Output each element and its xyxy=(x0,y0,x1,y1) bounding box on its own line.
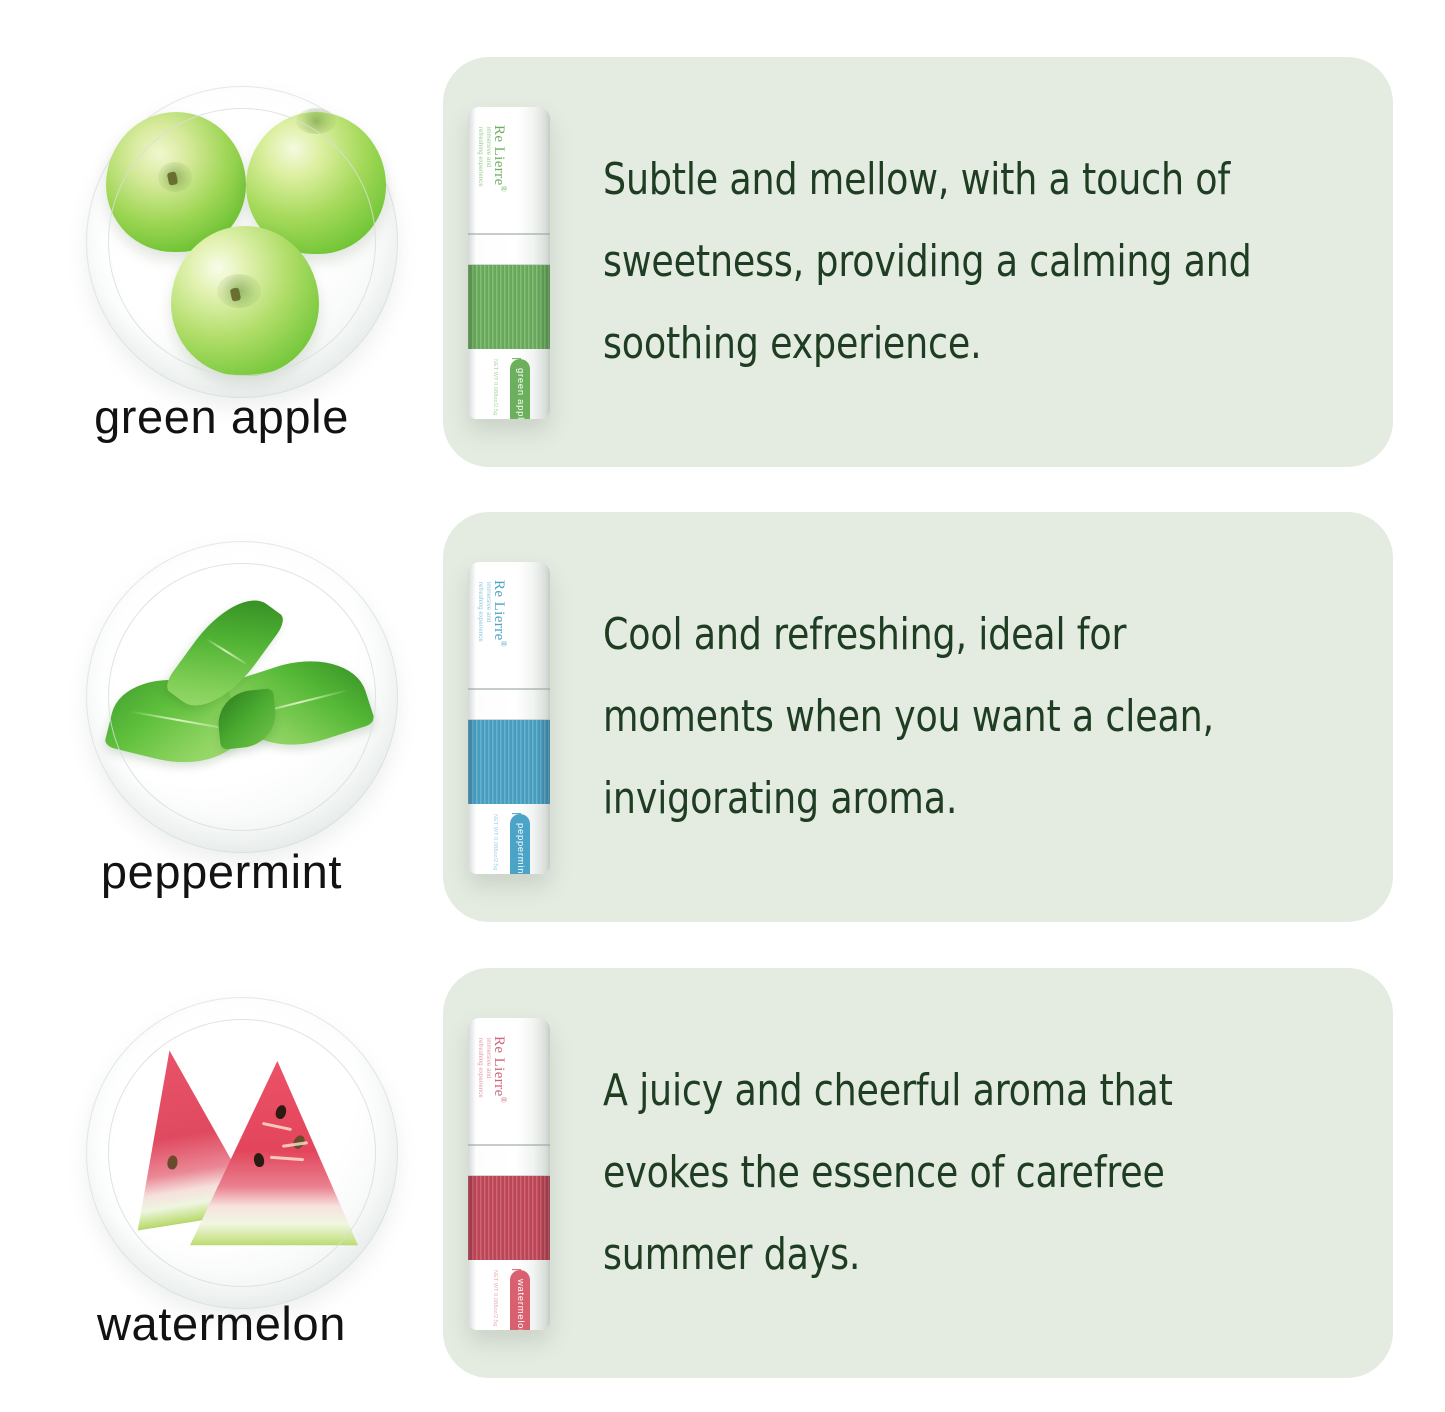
fruit-column: green apple xyxy=(0,57,443,467)
flavor-description-peppermint: Cool and refreshing, ideal for moments w… xyxy=(603,594,1302,841)
watermelon-seed xyxy=(291,1133,307,1150)
fruit-label-watermelon: watermelon xyxy=(0,1300,443,1347)
mint-sprig xyxy=(108,583,376,821)
description-panel-peppermint: Re Lierre® immersive andrefreshing exper… xyxy=(443,512,1393,922)
stick-collar xyxy=(468,235,550,265)
fruit-label-peppermint: peppermint xyxy=(0,848,443,895)
brand-tagline: immersive andrefreshing experience xyxy=(476,1038,492,1098)
watermelon-wedge xyxy=(190,1061,358,1257)
apple xyxy=(246,112,386,254)
flavor-description-green-apple: Subtle and mellow, with a touch of sweet… xyxy=(603,139,1330,386)
stick-color-band xyxy=(468,1176,550,1260)
product-stick-slot: Re Lierre® immersive andrefreshing exper… xyxy=(443,57,603,467)
fruit-column: watermelon xyxy=(0,968,443,1378)
plate xyxy=(86,541,398,853)
green-apples-on-plate-icon xyxy=(68,83,416,401)
product-stick-slot: Re Lierre® immersive andrefreshing exper… xyxy=(443,512,603,922)
brand-name: Re Lierre® xyxy=(490,580,508,647)
leaf-vein xyxy=(205,638,246,665)
mint-leaf xyxy=(104,664,252,777)
apple-stem xyxy=(167,171,179,186)
flavor-row-green-apple: green apple Re Lierre® immersive andrefr… xyxy=(0,57,1445,467)
stick-collar xyxy=(468,1146,550,1176)
apple-dimple xyxy=(217,274,261,308)
leaf-vein xyxy=(253,689,349,715)
apple-dimple xyxy=(296,108,336,134)
apple-dimple xyxy=(158,162,192,192)
watermelon-seed xyxy=(274,1104,288,1120)
plate-gloss xyxy=(136,1034,242,1096)
apple xyxy=(106,112,246,252)
plate xyxy=(86,86,398,398)
watermelon-slices-on-plate-icon xyxy=(68,994,416,1312)
nasal-stick-green-apple: Re Lierre® immersive andrefreshing exper… xyxy=(468,107,550,419)
watermelon-fiber xyxy=(282,1141,308,1148)
plate xyxy=(86,997,398,1309)
flavor-description-watermelon: A juicy and cheerful aroma that evokes t… xyxy=(603,1050,1302,1297)
net-weight: NET WT 0.088oz/2.5g xyxy=(492,814,498,870)
watermelon-fiber xyxy=(270,1156,304,1161)
apple xyxy=(171,226,319,376)
apple-stem xyxy=(230,287,242,302)
net-weight: NET WT 0.088oz/2.5g xyxy=(492,359,498,415)
flavor-list: green apple Re Lierre® immersive andrefr… xyxy=(0,0,1445,1412)
brand-name: Re Lierre® xyxy=(490,1036,508,1103)
flavor-pill: watermelon xyxy=(510,1270,530,1330)
nasal-stick-peppermint: Re Lierre® immersive andrefreshing exper… xyxy=(468,562,550,874)
brand-name: Re Lierre® xyxy=(490,125,508,192)
nasal-stick-watermelon: Re Lierre® immersive andrefreshing exper… xyxy=(468,1018,550,1330)
stick-color-band xyxy=(468,265,550,349)
leaf-vein xyxy=(129,711,228,730)
stick-collar xyxy=(468,690,550,720)
watermelon-seed xyxy=(166,1155,178,1170)
fruit-label-green-apple: green apple xyxy=(0,393,443,440)
flavor-row-watermelon: watermelon Re Lierre® immersive andrefre… xyxy=(0,968,1445,1378)
mint-leaf xyxy=(226,643,376,763)
mint-leaf xyxy=(215,688,279,750)
stick-color-band xyxy=(468,720,550,804)
mint-leaf xyxy=(162,583,287,723)
flavor-pill: peppermint xyxy=(510,814,530,874)
flavor-row-peppermint: peppermint Re Lierre® immersive andrefre… xyxy=(0,512,1445,922)
brand-tagline: immersive andrefreshing experience xyxy=(476,582,492,642)
mint-leaves-on-plate-icon xyxy=(68,538,416,856)
watermelon-seed xyxy=(253,1152,265,1168)
flavor-pill: green apple xyxy=(510,359,530,419)
watermelon-slices xyxy=(118,1045,370,1269)
product-stick-slot: Re Lierre® immersive andrefreshing exper… xyxy=(443,968,603,1378)
description-panel-watermelon: Re Lierre® immersive andrefreshing exper… xyxy=(443,968,1393,1378)
watermelon-wedge xyxy=(111,1040,262,1237)
fruit-column: peppermint xyxy=(0,512,443,922)
net-weight: NET WT 0.088oz/2.5g xyxy=(492,1270,498,1326)
brand-tagline: immersive andrefreshing experience xyxy=(476,127,492,187)
watermelon-fiber xyxy=(262,1122,292,1131)
description-panel-green-apple: Re Lierre® immersive andrefreshing exper… xyxy=(443,57,1393,467)
